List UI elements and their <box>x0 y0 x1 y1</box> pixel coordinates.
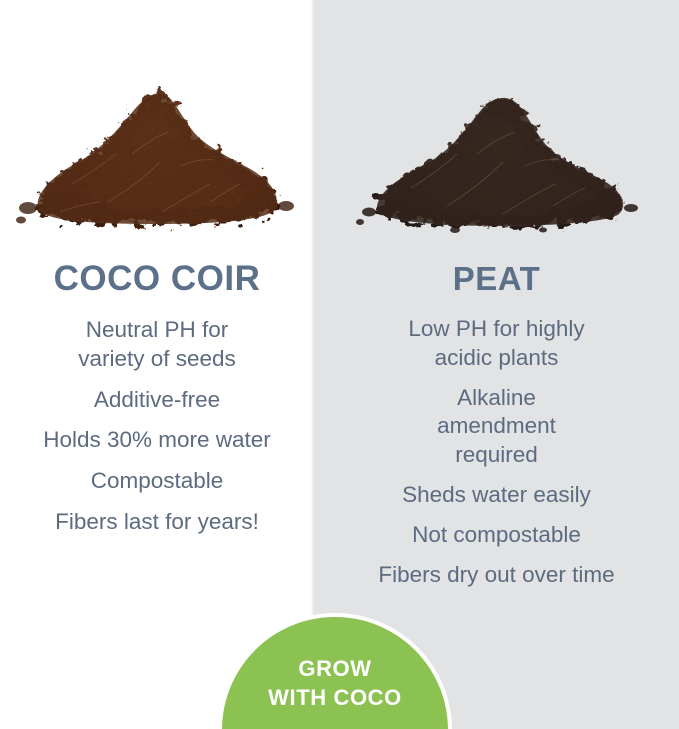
column-peat: PEAT Low PH for highly acidic plants Alk… <box>314 0 679 729</box>
list-item: Neutral PH for variety of seeds <box>0 316 314 374</box>
feature-list-peat: Low PH for highly acidic plants Alkaline… <box>314 315 679 600</box>
list-item: Holds 30% more water <box>0 426 314 455</box>
list-item: Low PH for highly acidic plants <box>314 315 679 373</box>
page-title-coco-coir: COCO COIR <box>0 261 314 296</box>
list-item: Compostable <box>0 467 314 496</box>
list-item: Fibers dry out over time <box>314 561 679 590</box>
coco-coir-image <box>0 34 314 234</box>
list-item: Additive-free <box>0 386 314 415</box>
column-coco-coir: COCO COIR Neutral PH for variety of seed… <box>0 0 314 729</box>
list-item: Sheds water easily <box>314 481 679 510</box>
comparison-infographic: COCO COIR Neutral PH for variety of seed… <box>0 0 679 729</box>
list-item: Not compostable <box>314 521 679 550</box>
list-item: Alkaline amendment required <box>314 384 679 470</box>
coco-coir-pile-graphic <box>12 34 302 234</box>
badge-label: GROW WITH COCO <box>222 654 448 712</box>
feature-list-coco-coir: Neutral PH for variety of seeds Additive… <box>0 316 314 549</box>
list-item: Fibers last for years! <box>0 508 314 537</box>
peat-pile-graphic <box>347 62 647 234</box>
peat-image <box>314 62 679 234</box>
page-title-peat: PEAT <box>314 262 679 295</box>
